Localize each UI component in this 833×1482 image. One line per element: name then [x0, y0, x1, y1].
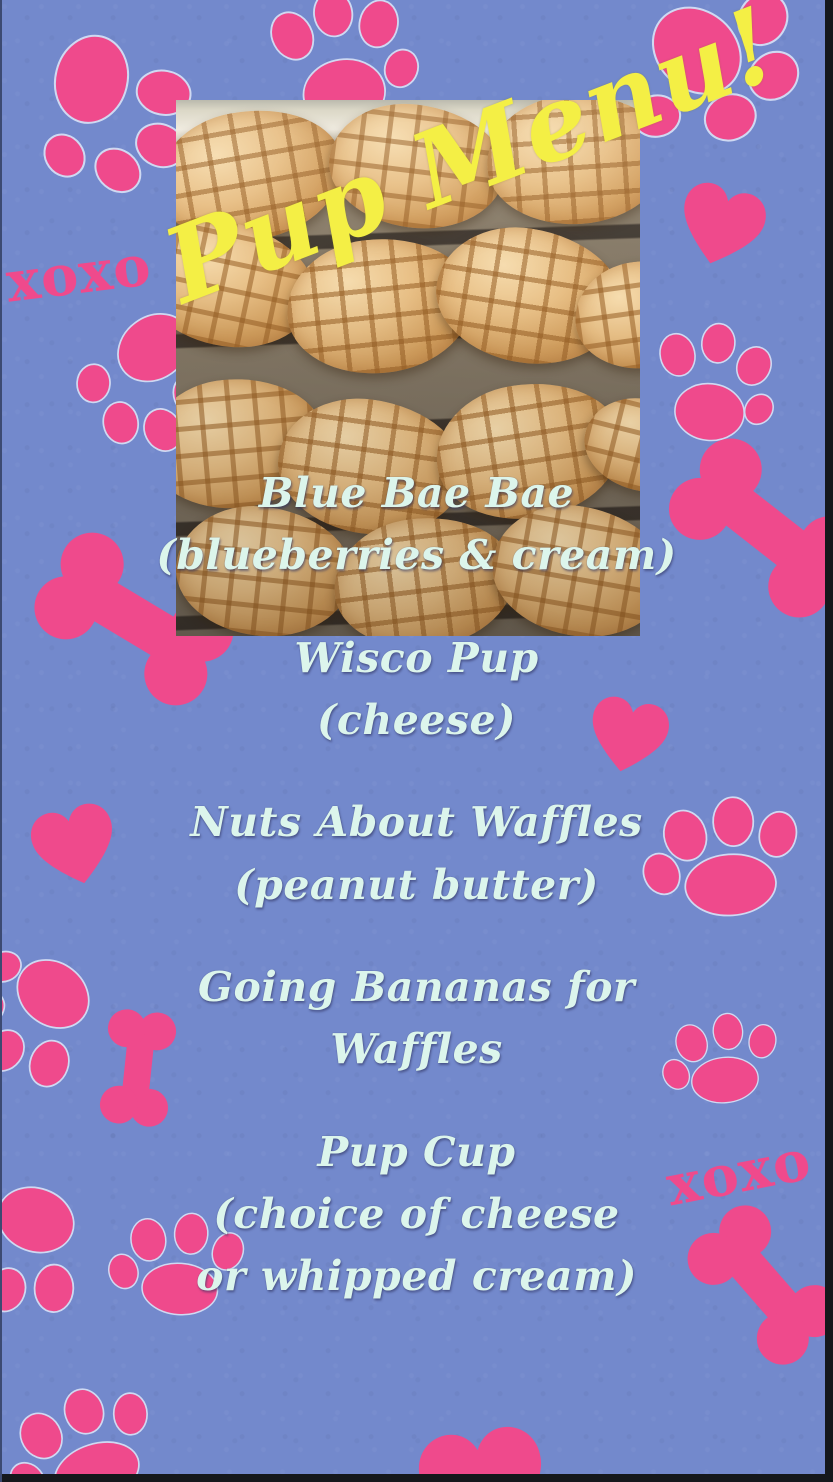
menu-item-description: (choice of cheese	[0, 1183, 833, 1245]
menu-item-description: (blueberries & cream)	[0, 524, 833, 586]
menu-item-nuts-about-waffles: Nuts About Waffles (peanut butter)	[0, 791, 833, 916]
paw-print-icon	[0, 1366, 173, 1482]
heart-icon	[668, 175, 773, 278]
menu-item-name-line2: Waffles	[0, 1018, 833, 1080]
menu-item-name: Wisco Pup	[0, 627, 833, 689]
menu-item-name: Nuts About Waffles	[0, 791, 833, 853]
bottom-edge-border	[0, 1474, 833, 1482]
left-edge-border	[0, 0, 2, 1482]
menu-item-wisco-pup: Wisco Pup (cheese)	[0, 627, 833, 752]
menu-item-pup-cup: Pup Cup (choice of cheese or whipped cre…	[0, 1121, 833, 1308]
right-edge-border	[825, 0, 833, 1482]
heart-icon	[410, 1420, 555, 1482]
menu-list: Blue Bae Bae (blueberries & cream) Wisco…	[0, 462, 833, 1307]
menu-item-name: Going Bananas for	[0, 956, 833, 1018]
xoxo-sticker: xoxo	[3, 237, 154, 310]
menu-item-going-bananas-for-waffles: Going Bananas for Waffles	[0, 956, 833, 1081]
menu-item-description: (peanut butter)	[0, 854, 833, 916]
menu-item-name: Blue Bae Bae	[0, 462, 833, 524]
menu-item-name: Pup Cup	[0, 1121, 833, 1183]
menu-item-description-line2: or whipped cream)	[0, 1245, 833, 1307]
menu-item-blue-bae-bae: Blue Bae Bae (blueberries & cream)	[0, 462, 833, 587]
poster-canvas: Pup Menu! xoxo xoxo Blue Bae Bae (bluebe…	[0, 0, 833, 1482]
menu-item-description: (cheese)	[0, 689, 833, 751]
